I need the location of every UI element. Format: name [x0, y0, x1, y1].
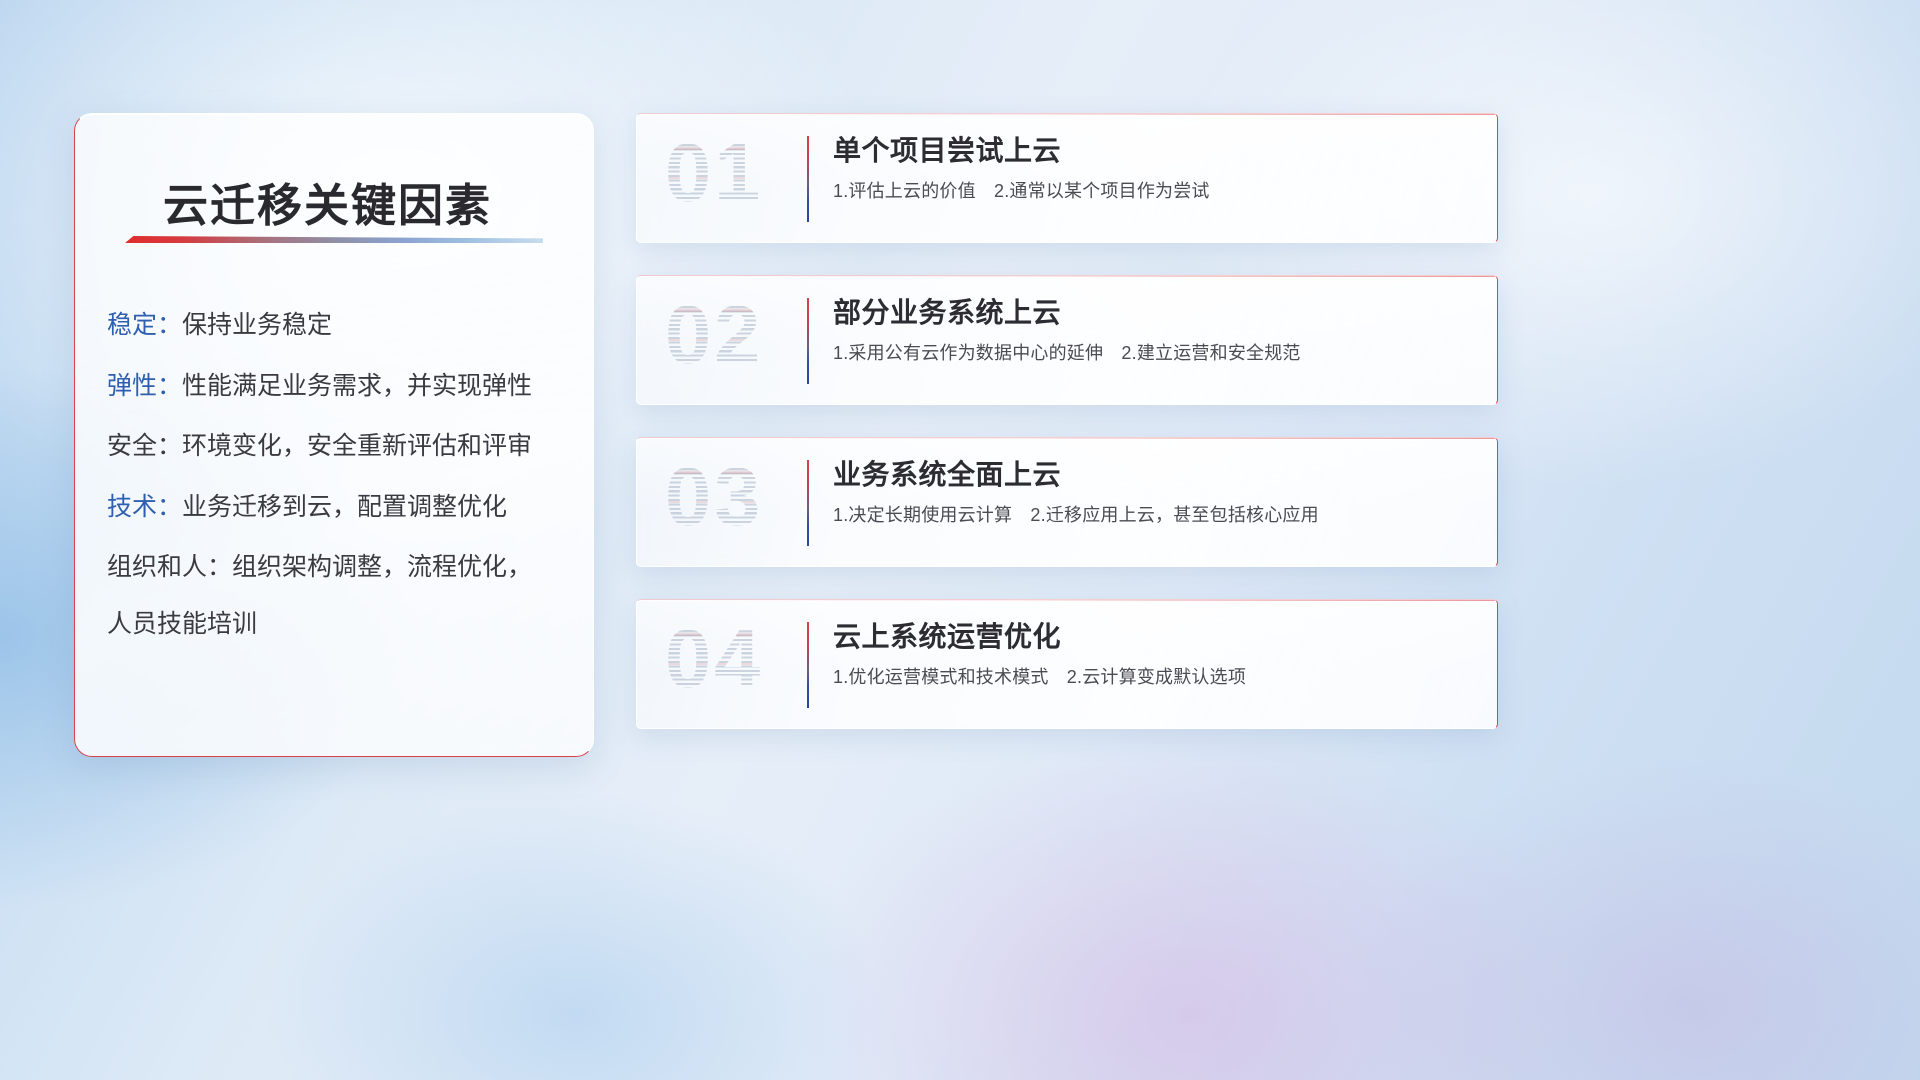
- factor-item-organization-line2: 人员技能培训: [107, 609, 567, 641]
- stage-number-02-tint: 02: [665, 293, 763, 376]
- title-underline-accent: [125, 236, 543, 243]
- factor-label: 安全：: [107, 432, 182, 460]
- factor-text: 业务迁移到云，配置调整优化: [182, 493, 507, 521]
- stage-card-04[interactable]: 04 04 云上系统运营优化 1.优化运营模式和技术模式 2.云计算变成默认选项: [636, 599, 1498, 729]
- stage-number-01-tint: 01: [665, 131, 763, 214]
- factor-label: 稳定：: [107, 311, 182, 339]
- stage-divider-bar: [807, 460, 809, 546]
- factor-item-stability: 稳定：保持业务稳定: [107, 310, 567, 342]
- stage-title: 业务系统全面上云: [833, 458, 1473, 491]
- factor-list: 稳定：保持业务稳定 弹性：性能满足业务需求，并实现弹性 安全：环境变化，安全重新…: [107, 310, 567, 640]
- factor-label: 组织和人：: [107, 553, 232, 581]
- stage-card-03[interactable]: 03 03 业务系统全面上云 1.决定长期使用云计算 2.迁移应用上云，甚至包括…: [636, 437, 1498, 567]
- stage-description: 1.评估上云的价值 2.通常以某个项目作为尝试: [833, 180, 1473, 203]
- factor-text: 环境变化，安全重新评估和评审: [182, 432, 532, 460]
- factor-item-security: 安全：环境变化，安全重新评估和评审: [107, 431, 567, 463]
- stage-card-02[interactable]: 02 02 部分业务系统上云 1.采用公有云作为数据中心的延伸 2.建立运营和安…: [636, 275, 1498, 405]
- stage-title: 部分业务系统上云: [833, 296, 1473, 329]
- stage-divider-bar: [807, 622, 809, 708]
- factor-text: 组织架构调整，流程优化，: [232, 553, 532, 581]
- stage-description: 1.决定长期使用云计算 2.迁移应用上云，甚至包括核心应用: [833, 504, 1473, 527]
- stage-content: 部分业务系统上云 1.采用公有云作为数据中心的延伸 2.建立运营和安全规范: [833, 296, 1473, 365]
- stage-number-04-tint: 04: [665, 617, 763, 700]
- page-title: 云迁移关键因素: [163, 169, 492, 234]
- factor-label: 弹性：: [107, 372, 182, 400]
- migration-stage-list: 01 01 单个项目尝试上云 1.评估上云的价值 2.通常以某个项目作为尝试 0…: [636, 113, 1498, 761]
- factor-label: 技术：: [107, 493, 182, 521]
- factor-item-elasticity: 弹性：性能满足业务需求，并实现弹性: [107, 371, 567, 403]
- stage-content: 业务系统全面上云 1.决定长期使用云计算 2.迁移应用上云，甚至包括核心应用: [833, 458, 1473, 527]
- stage-divider-bar: [807, 136, 809, 222]
- key-factors-panel: 云迁移关键因素 稳定：保持业务稳定 弹性：性能满足业务需求，并实现弹性 安全：环…: [74, 113, 594, 757]
- factor-text: 性能满足业务需求，并实现弹性: [182, 372, 532, 400]
- factor-item-technology: 技术：业务迁移到云，配置调整优化: [107, 492, 567, 524]
- stage-title: 云上系统运营优化: [833, 620, 1473, 653]
- stage-title: 单个项目尝试上云: [833, 134, 1473, 167]
- stage-number-03-tint: 03: [665, 455, 763, 538]
- stage-description: 1.优化运营模式和技术模式 2.云计算变成默认选项: [833, 666, 1473, 689]
- stage-content: 云上系统运营优化 1.优化运营模式和技术模式 2.云计算变成默认选项: [833, 620, 1473, 689]
- stage-description: 1.采用公有云作为数据中心的延伸 2.建立运营和安全规范: [833, 342, 1473, 365]
- stage-card-01[interactable]: 01 01 单个项目尝试上云 1.评估上云的价值 2.通常以某个项目作为尝试: [636, 113, 1498, 243]
- background-glow-bottom-left: [154, 713, 999, 1080]
- factor-item-organization: 组织和人：组织架构调整，流程优化，: [107, 552, 567, 584]
- factor-text: 保持业务稳定: [182, 311, 332, 339]
- stage-divider-bar: [807, 298, 809, 384]
- stage-content: 单个项目尝试上云 1.评估上云的价值 2.通常以某个项目作为尝试: [833, 134, 1473, 203]
